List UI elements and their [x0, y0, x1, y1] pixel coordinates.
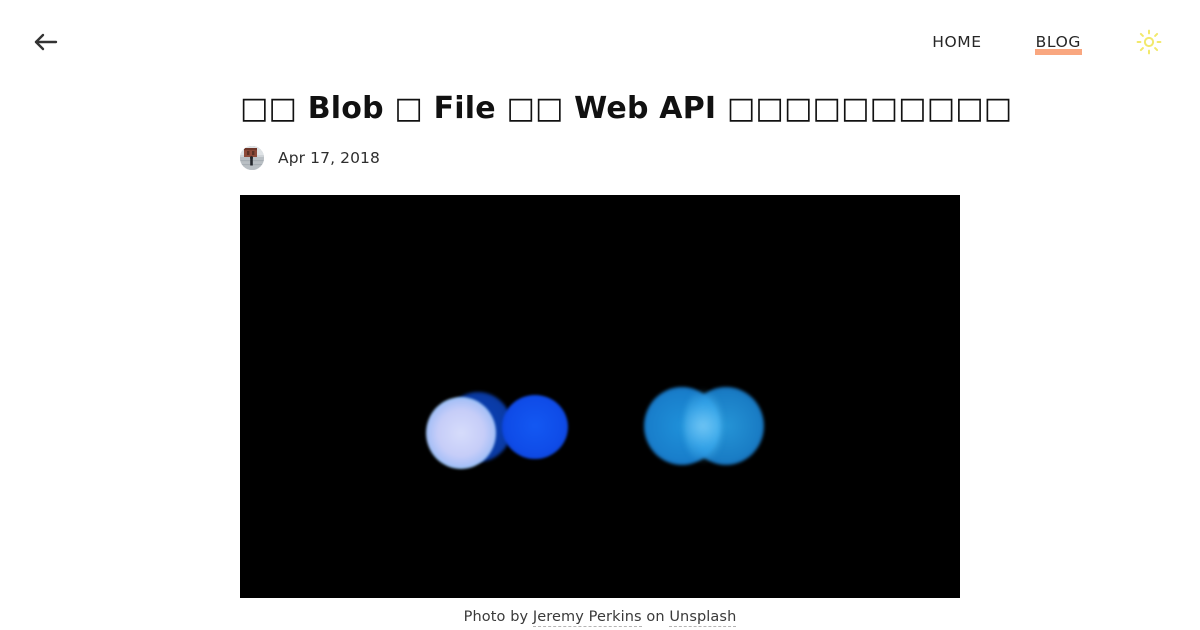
caption-photographer-link[interactable]: Jeremy Perkins: [533, 609, 642, 627]
caption-middle: on: [642, 609, 670, 625]
nav-link-home[interactable]: HOME: [931, 30, 982, 55]
back-button[interactable]: [30, 27, 60, 57]
article: □□ Blob □ File □□ Web API □□□□□□□□□□: [240, 84, 960, 627]
page-title: □□ Blob □ File □□ Web API □□□□□□□□□□: [240, 90, 960, 128]
main-nav: HOME BLOG: [931, 27, 1164, 57]
bokeh-circle: [502, 395, 568, 459]
bokeh-circle: [684, 391, 722, 461]
bokeh-circle: [426, 397, 496, 469]
publish-date: Apr 17, 2018: [278, 148, 380, 168]
arrow-left-icon: [30, 27, 60, 57]
hero-caption: Photo by Jeremy Perkins on Unsplash: [240, 607, 960, 627]
hero-image: [240, 195, 960, 598]
nav-link-blog[interactable]: BLOG: [1035, 30, 1082, 55]
site-header: HOME BLOG: [0, 0, 1200, 84]
caption-source-link[interactable]: Unsplash: [669, 609, 736, 627]
article-meta: Apr 17, 2018: [240, 145, 960, 171]
hero-figure: Photo by Jeremy Perkins on Unsplash: [240, 195, 960, 627]
caption-prefix: Photo by: [464, 609, 533, 625]
avatar: [240, 146, 264, 170]
theme-toggle-button[interactable]: [1134, 27, 1164, 57]
sun-icon: [1136, 29, 1162, 55]
